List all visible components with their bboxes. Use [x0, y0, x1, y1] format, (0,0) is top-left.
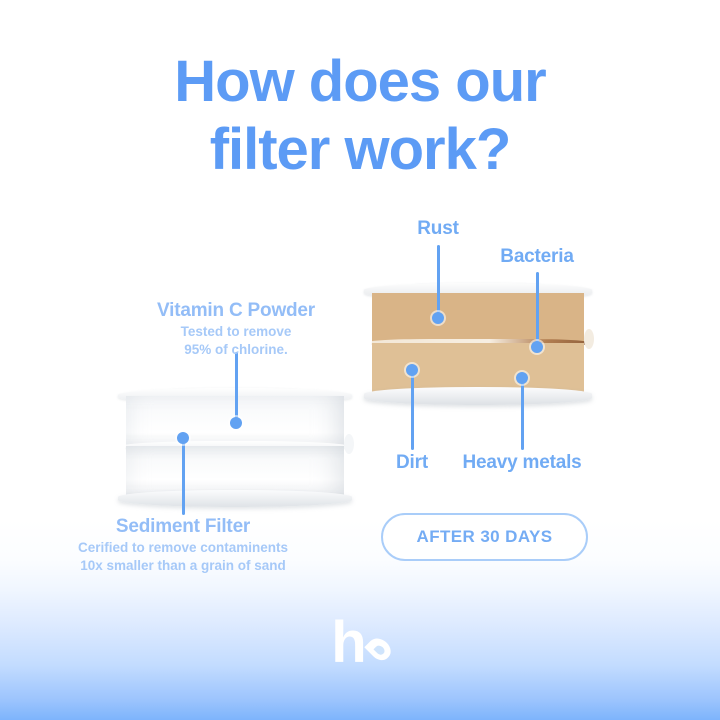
leader-line-heavy-metals: [521, 380, 524, 450]
callout-rust: Rust: [388, 218, 488, 240]
leader-line-vitamin-c: [235, 352, 238, 424]
callout-vitamin-c-sub-1: Tested to remove: [118, 323, 354, 340]
leader-dot-vitamin-c: [230, 417, 242, 429]
brand-logo: h: [0, 618, 720, 667]
leader-dot-rust: [432, 312, 444, 324]
after-30-days-badge-label: AFTER 30 DAYS: [417, 527, 553, 547]
callout-dirt-title: Dirt: [362, 452, 462, 474]
callout-sediment: Sediment Filter Cerified to remove conta…: [33, 516, 333, 575]
leader-line-bacteria: [536, 272, 539, 348]
callout-heavy-metals-title: Heavy metals: [455, 452, 589, 474]
callout-vitamin-c-sub-2: 95% of chlorine.: [118, 341, 354, 358]
leader-line-dirt: [411, 372, 414, 450]
used-filter-upper-body: [372, 293, 584, 345]
callout-vitamin-c: Vitamin C Powder Tested to remove 95% of…: [118, 300, 354, 359]
leader-dot-sediment: [177, 432, 189, 444]
callout-bacteria: Bacteria: [482, 246, 592, 268]
new-filter-right-notch: [344, 434, 354, 454]
leader-line-rust: [437, 245, 440, 320]
infographic-page: How does our filter work?: [0, 0, 720, 720]
callout-bacteria-title: Bacteria: [482, 246, 592, 268]
brand-logo-wordmark: h: [331, 618, 365, 667]
leader-line-sediment: [182, 441, 185, 515]
callout-vitamin-c-title: Vitamin C Powder: [118, 300, 354, 322]
used-filter-bottom-rim: [364, 387, 592, 405]
callout-sediment-sub-2: 10x smaller than a grain of sand: [33, 557, 333, 574]
callout-sediment-sub-1: Cerified to remove contaminents: [33, 539, 333, 556]
water-drop-icon: [364, 634, 394, 664]
callout-sediment-title: Sediment Filter: [33, 516, 333, 538]
page-title-line-1: How does our: [0, 48, 720, 116]
used-filter-image: [364, 283, 592, 405]
after-30-days-badge[interactable]: AFTER 30 DAYS: [381, 513, 588, 561]
callout-heavy-metals: Heavy metals: [455, 452, 589, 474]
callout-rust-title: Rust: [388, 218, 488, 240]
leader-dot-bacteria: [531, 341, 543, 353]
leader-dot-dirt: [406, 364, 418, 376]
page-title: How does our filter work?: [0, 48, 720, 185]
used-filter-left-notch: [362, 329, 372, 349]
callout-dirt: Dirt: [362, 452, 462, 474]
page-title-line-2: filter work?: [0, 116, 720, 184]
used-filter-right-notch: [584, 329, 594, 349]
leader-dot-heavy-metals: [516, 372, 528, 384]
new-filter-bottom-rim: [118, 490, 352, 507]
new-filter-left-notch: [116, 434, 126, 454]
